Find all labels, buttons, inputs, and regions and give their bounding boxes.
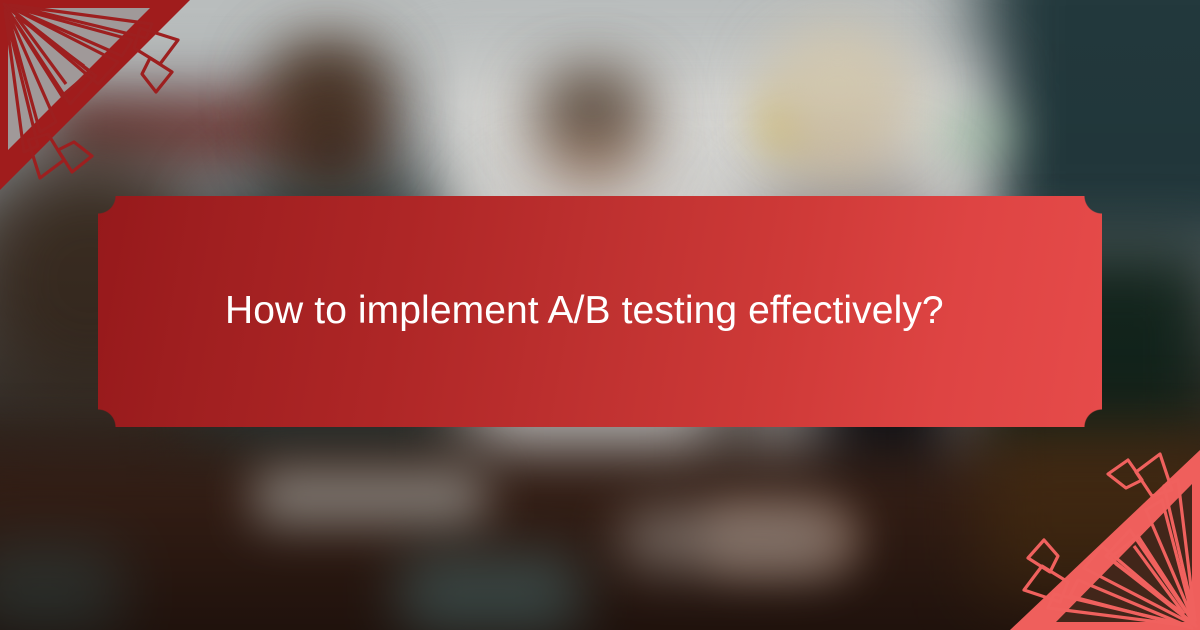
headline-banner: How to implement A/B testing effectively… <box>98 196 1102 427</box>
banner-stage: How to implement A/B testing effectively… <box>0 0 1200 630</box>
page-title: How to implement A/B testing effectively… <box>225 287 944 336</box>
